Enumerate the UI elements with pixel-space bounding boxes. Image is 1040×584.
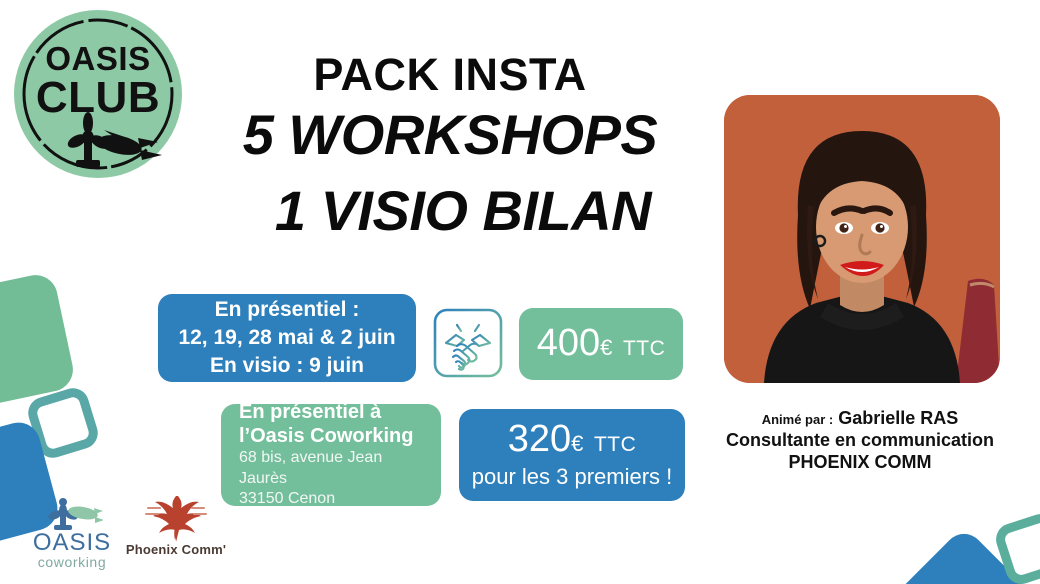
price-early-amount: 320 xyxy=(508,418,571,460)
svg-text:CLUB: CLUB xyxy=(36,73,160,122)
dates-line-2: 12, 19, 28 mai & 2 juin xyxy=(178,324,395,352)
presenter-name: Gabrielle RAS xyxy=(838,408,958,428)
phoenix-bird-icon xyxy=(124,494,228,542)
price-early-tax-label: TTC xyxy=(594,433,636,456)
phoenix-comm-logo: Phoenix Comm' xyxy=(124,494,228,570)
address-box: En présentiel à l’Oasis Coworking 68 bis… xyxy=(221,404,441,506)
presenter-company: PHOENIX COMM xyxy=(700,452,1020,474)
oasis-club-logo: OASIS CLUB xyxy=(12,8,184,180)
address-title-line-1: En présentiel à xyxy=(239,400,425,424)
handshake-icon xyxy=(432,307,504,379)
presenter-prefix: Animé par : xyxy=(762,412,834,427)
presenter-portrait xyxy=(724,95,1000,383)
price-full-tax-label: TTC xyxy=(623,337,665,360)
flyer-canvas: OASIS CLUB PACK INSTA 5 WORKSHOPS 1 VISI… xyxy=(0,0,1040,584)
heading-line-2: 1 VISIO BILAN xyxy=(190,173,710,249)
heading-line-1: 5 WORKSHOPS xyxy=(190,97,710,173)
svg-text:OASIS: OASIS xyxy=(45,40,150,77)
dates-box: En présentiel : 12, 19, 28 mai & 2 juin … xyxy=(158,294,416,382)
address-street: 68 bis, avenue Jean Jaurès xyxy=(239,448,425,490)
price-early-badge: 320€ TTC pour les 3 premiers ! xyxy=(459,409,685,501)
oasis-coworking-mark-icon xyxy=(26,496,118,530)
price-early-note: pour les 3 premiers ! xyxy=(472,464,673,490)
oasis-coworking-wordmark: OASIS xyxy=(26,530,118,555)
price-full-badge: 400€ TTC xyxy=(519,308,683,380)
price-full-amount: 400 xyxy=(537,322,600,364)
phoenix-comm-wordmark: Phoenix Comm' xyxy=(124,542,228,557)
dates-line-3: En visio : 9 juin xyxy=(210,352,364,380)
dates-line-1: En présentiel : xyxy=(215,296,360,324)
heading-kicker: PACK INSTA xyxy=(190,52,710,97)
presenter-name-row: Animé par : Gabrielle RAS xyxy=(700,408,1020,430)
address-city: 33150 Cenon xyxy=(239,489,425,510)
oasis-coworking-subtitle: coworking xyxy=(26,555,118,570)
oasis-coworking-logo: OASIS coworking xyxy=(26,496,118,570)
headings-block: PACK INSTA 5 WORKSHOPS 1 VISIO BILAN xyxy=(190,52,710,248)
price-early-amount-row: 320€ TTC xyxy=(508,420,637,460)
address-title-line-2: l’Oasis Coworking xyxy=(239,424,425,448)
price-early-currency: € xyxy=(571,431,583,456)
price-full-amount-row: 400€ TTC xyxy=(537,324,666,364)
presenter-credit: Animé par : Gabrielle RAS Consultante en… xyxy=(700,408,1020,474)
presenter-role: Consultante en communication xyxy=(700,430,1020,452)
price-full-currency: € xyxy=(600,335,612,360)
